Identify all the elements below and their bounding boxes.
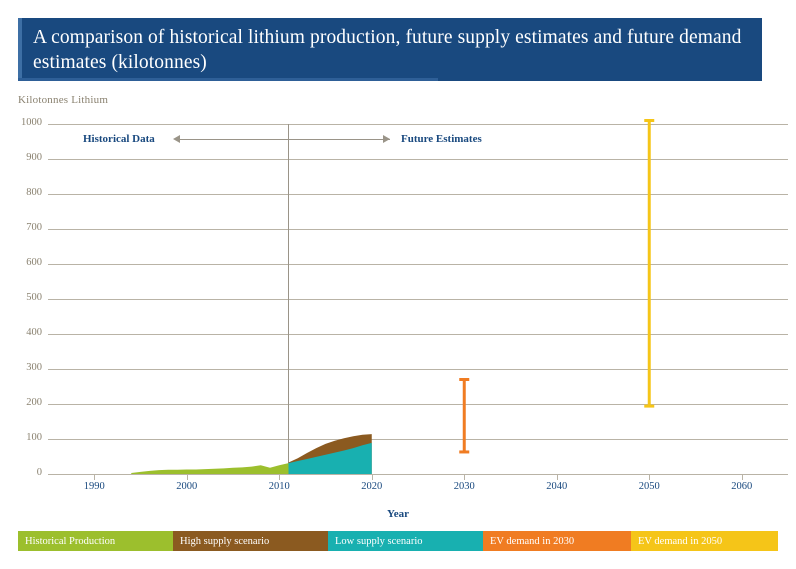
area-series-historical-production — [131, 463, 288, 474]
legend-item-2[interactable]: Low supply scenario — [328, 531, 483, 551]
legend-item-3[interactable]: EV demand in 2030 — [483, 531, 631, 551]
legend-item-4[interactable]: EV demand in 2050 — [631, 531, 778, 551]
range-bar-ev-demand-in-2050 — [644, 121, 654, 407]
chart-series-layer — [0, 0, 796, 569]
x-axis-label: Year — [0, 508, 796, 520]
range-bar-ev-demand-in-2030 — [459, 380, 469, 452]
chart-page: A comparison of historical lithium produ… — [0, 0, 796, 569]
legend-item-1[interactable]: High supply scenario — [173, 531, 328, 551]
chart-legend: Historical ProductionHigh supply scenari… — [18, 531, 778, 551]
legend-item-0[interactable]: Historical Production — [18, 531, 173, 551]
